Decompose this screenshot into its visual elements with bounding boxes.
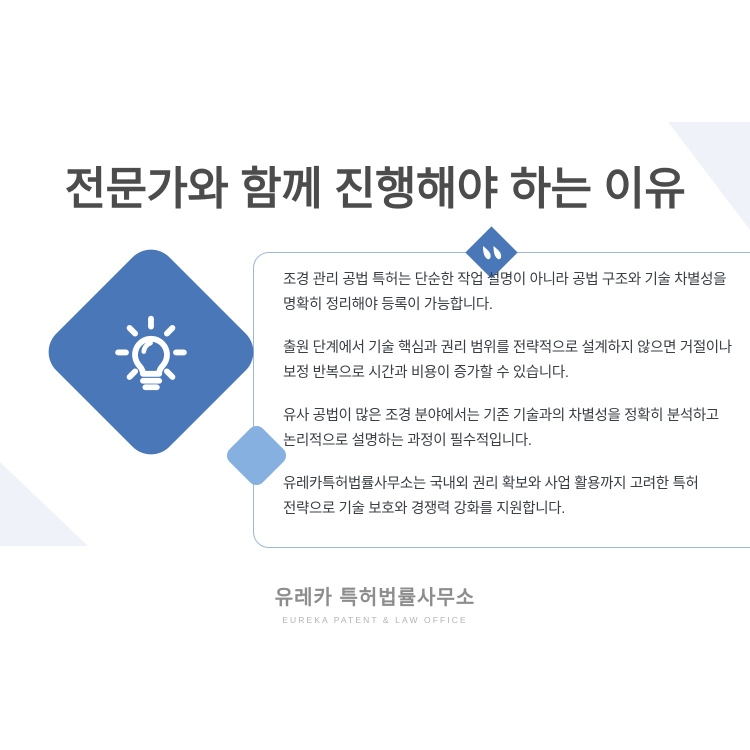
lightbulb-icon [71, 272, 231, 432]
card-text-body: 조경 관리 공법 특허는 단순한 작업 설명이 아니라 공법 구조와 기술 차별… [283, 268, 733, 538]
paragraph-1: 조경 관리 공법 특허는 단순한 작업 설명이 아니라 공법 구조와 기술 차별… [283, 268, 733, 318]
page-title: 전문가와 함께 진행해야 하는 이유 [0, 163, 750, 215]
quotation-mark-icon [473, 234, 510, 271]
logo-english-name: EUREKA PATENT & LAW OFFICE [0, 615, 750, 625]
logo-korean-name: 유레카 특허법률사무소 [0, 586, 750, 611]
slide-canvas: 전문가와 함께 진행해야 하는 이유 [0, 0, 750, 750]
background-triangle-left [0, 462, 88, 546]
footer-logo: 유레카 특허법률사무소 EUREKA PATENT & LAW OFFICE [0, 586, 750, 625]
paragraph-4: 유레카특허법률사무소는 국내외 권리 확보와 사업 활용까지 고려한 특허 전략… [283, 472, 733, 522]
paragraph-2: 출원 단계에서 기술 핵심과 권리 범위를 전략적으로 설계하지 않으면 거절이… [283, 336, 733, 386]
paragraph-3: 유사 공법이 많은 조경 분야에서는 기존 기술과의 차별성을 정확히 분석하고… [283, 404, 733, 454]
